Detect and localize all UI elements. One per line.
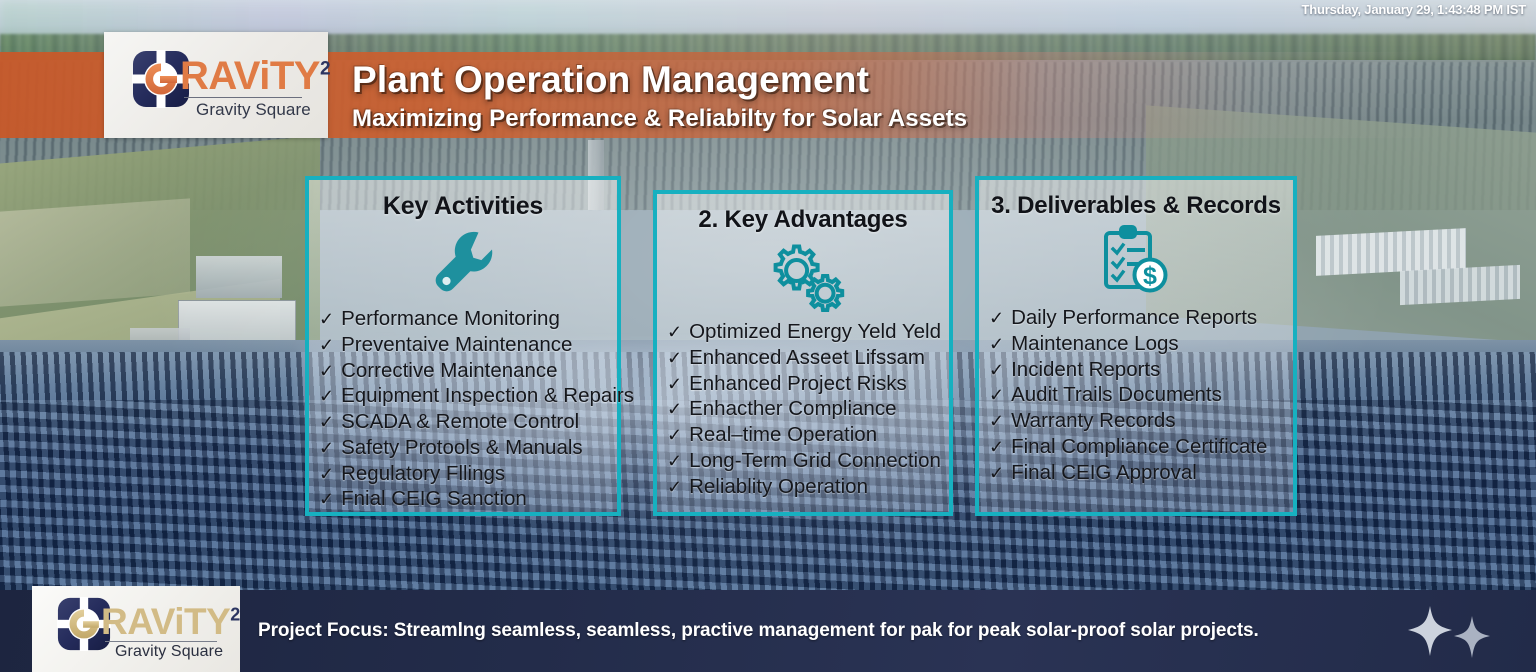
list-item-label: Safety Protools & Manuals: [341, 436, 583, 460]
list-item: ✓Warranty Records: [989, 409, 1283, 433]
check-icon: ✓: [989, 335, 1004, 353]
check-icon: ✓: [319, 465, 334, 483]
list-item: ✓Fnial CEIG Sanction: [319, 487, 607, 511]
list-item: ✓Enhanced Asseet Lifssam: [667, 346, 939, 370]
slide-root: Thursday, January 29, 1:43:48 PM IST: [0, 0, 1536, 672]
list-item: ✓Final Compliance Certificate: [989, 435, 1283, 459]
list-item-label: Final CEIG Approval: [1011, 461, 1197, 485]
list-item-label: Performance Monitoring: [341, 307, 560, 331]
gears-icon: [667, 238, 939, 314]
list-item: ✓Real–time Operation: [667, 423, 939, 447]
list-item: ✓Daily Performance Reports: [989, 306, 1283, 330]
card-title: 2. Key Advantages: [667, 206, 939, 234]
list-item: ✓Performance Monitoring: [319, 307, 607, 331]
card-item-list: ✓Optimized Energy Yeld Yeld ✓Enhanced As…: [667, 320, 939, 498]
check-icon: ✓: [319, 490, 334, 508]
list-item: ✓Final CEIG Approval: [989, 461, 1283, 485]
clipboard-dollar-icon: $: [989, 224, 1283, 300]
list-item-label: Optimized Energy Yeld Yeld: [689, 320, 941, 344]
list-item-label: Enhanced Asseet Lifssam: [689, 346, 925, 370]
card-title: 3. Deliverables & Records: [989, 192, 1283, 220]
wrench-icon: [319, 225, 607, 301]
list-item-label: Corrective Maintenance: [341, 359, 558, 383]
list-item-label: Maintenance Logs: [1011, 332, 1179, 356]
card-title: Key Activities: [319, 192, 607, 221]
card-key-advantages[interactable]: 2. Key Advantages ✓Optimized Energy Yeld…: [653, 190, 953, 516]
list-item: ✓SCADA & Remote Control: [319, 410, 607, 434]
list-item-label: Warranty Records: [1011, 409, 1175, 433]
check-icon: ✓: [667, 426, 682, 444]
check-icon: ✓: [319, 439, 334, 457]
list-item: ✓Incident Reports: [989, 358, 1283, 382]
list-item-label: Incident Reports: [1011, 358, 1160, 382]
check-icon: ✓: [319, 336, 334, 354]
check-icon: ✓: [989, 361, 1004, 379]
check-icon: ✓: [319, 413, 334, 431]
check-icon: ✓: [319, 362, 334, 380]
list-item: ✓Long-Term Grid Connection: [667, 449, 939, 473]
list-item: ✓Optimized Energy Yeld Yeld: [667, 320, 939, 344]
footer-bar: RAViTY2 Gravity Square Project Focus: St…: [0, 590, 1536, 672]
list-item-label: Equipment Inspection & Repairs: [341, 384, 634, 408]
check-icon: ✓: [319, 387, 334, 405]
logo-wordmark: RAViTY2: [101, 603, 240, 640]
list-item: ✓Enhanced Project Risks: [667, 372, 939, 396]
check-icon: ✓: [667, 452, 682, 470]
card-item-list: ✓Performance Monitoring ✓Preventaive Mai…: [319, 307, 607, 511]
list-item-label: Regulatory Fllings: [341, 462, 505, 486]
list-item-label: Long-Term Grid Connection: [689, 449, 941, 473]
logo-superscript: 2: [230, 605, 240, 625]
logo-subtitle: Gravity Square: [115, 643, 223, 661]
list-item: ✓Reliablity Operation: [667, 475, 939, 499]
list-item: ✓Maintenance Logs: [989, 332, 1283, 356]
cards-container: Key Activities ✓Performance Monitoring ✓…: [0, 0, 1536, 672]
list-item-label: Real–time Operation: [689, 423, 877, 447]
check-icon: ✓: [989, 412, 1004, 430]
check-icon: ✓: [989, 386, 1004, 404]
check-icon: ✓: [667, 478, 682, 496]
card-item-list: ✓Daily Performance Reports ✓Maintenance …: [989, 306, 1283, 484]
check-icon: ✓: [667, 349, 682, 367]
check-icon: ✓: [667, 375, 682, 393]
logo-divider: [105, 641, 217, 642]
list-item: ✓Regulatory Fllings: [319, 462, 607, 486]
check-icon: ✓: [667, 400, 682, 418]
check-icon: ✓: [989, 309, 1004, 327]
brand-logo-footer[interactable]: RAViTY2 Gravity Square: [32, 586, 240, 672]
list-item: ✓Corrective Maintenance: [319, 359, 607, 383]
list-item: ✓Safety Protools & Manuals: [319, 436, 607, 460]
list-item-label: Preventaive Maintenance: [341, 333, 572, 357]
list-item-label: SCADA & Remote Control: [341, 410, 579, 434]
sparkle-icon: [1400, 604, 1510, 662]
footer-message: Project Focus: Streamlng seamless, seaml…: [258, 590, 1259, 672]
list-item: ✓Enhacther Compliance: [667, 397, 939, 421]
list-item: ✓Preventaive Maintenance: [319, 333, 607, 357]
logo-wordmark-text: RAViTY: [101, 601, 230, 642]
check-icon: ✓: [319, 310, 334, 328]
list-item-label: Enhacther Compliance: [689, 397, 896, 421]
list-item-label: Daily Performance Reports: [1011, 306, 1257, 330]
list-item: ✓Equipment Inspection & Repairs: [319, 384, 607, 408]
check-icon: ✓: [989, 438, 1004, 456]
list-item-label: Reliablity Operation: [689, 475, 868, 499]
list-item-label: Final Compliance Certificate: [1011, 435, 1267, 459]
card-key-activities[interactable]: Key Activities ✓Performance Monitoring ✓…: [305, 176, 621, 516]
list-item-label: Enhanced Project Risks: [689, 372, 907, 396]
list-item: ✓Audit Trails Documents: [989, 383, 1283, 407]
list-item-label: Audit Trails Documents: [1011, 383, 1222, 407]
list-item-label: Fnial CEIG Sanction: [341, 487, 527, 511]
svg-text:$: $: [1143, 262, 1157, 290]
card-deliverables-records[interactable]: 3. Deliverables & Records: [975, 176, 1297, 516]
check-icon: ✓: [989, 464, 1004, 482]
check-icon: ✓: [667, 323, 682, 341]
